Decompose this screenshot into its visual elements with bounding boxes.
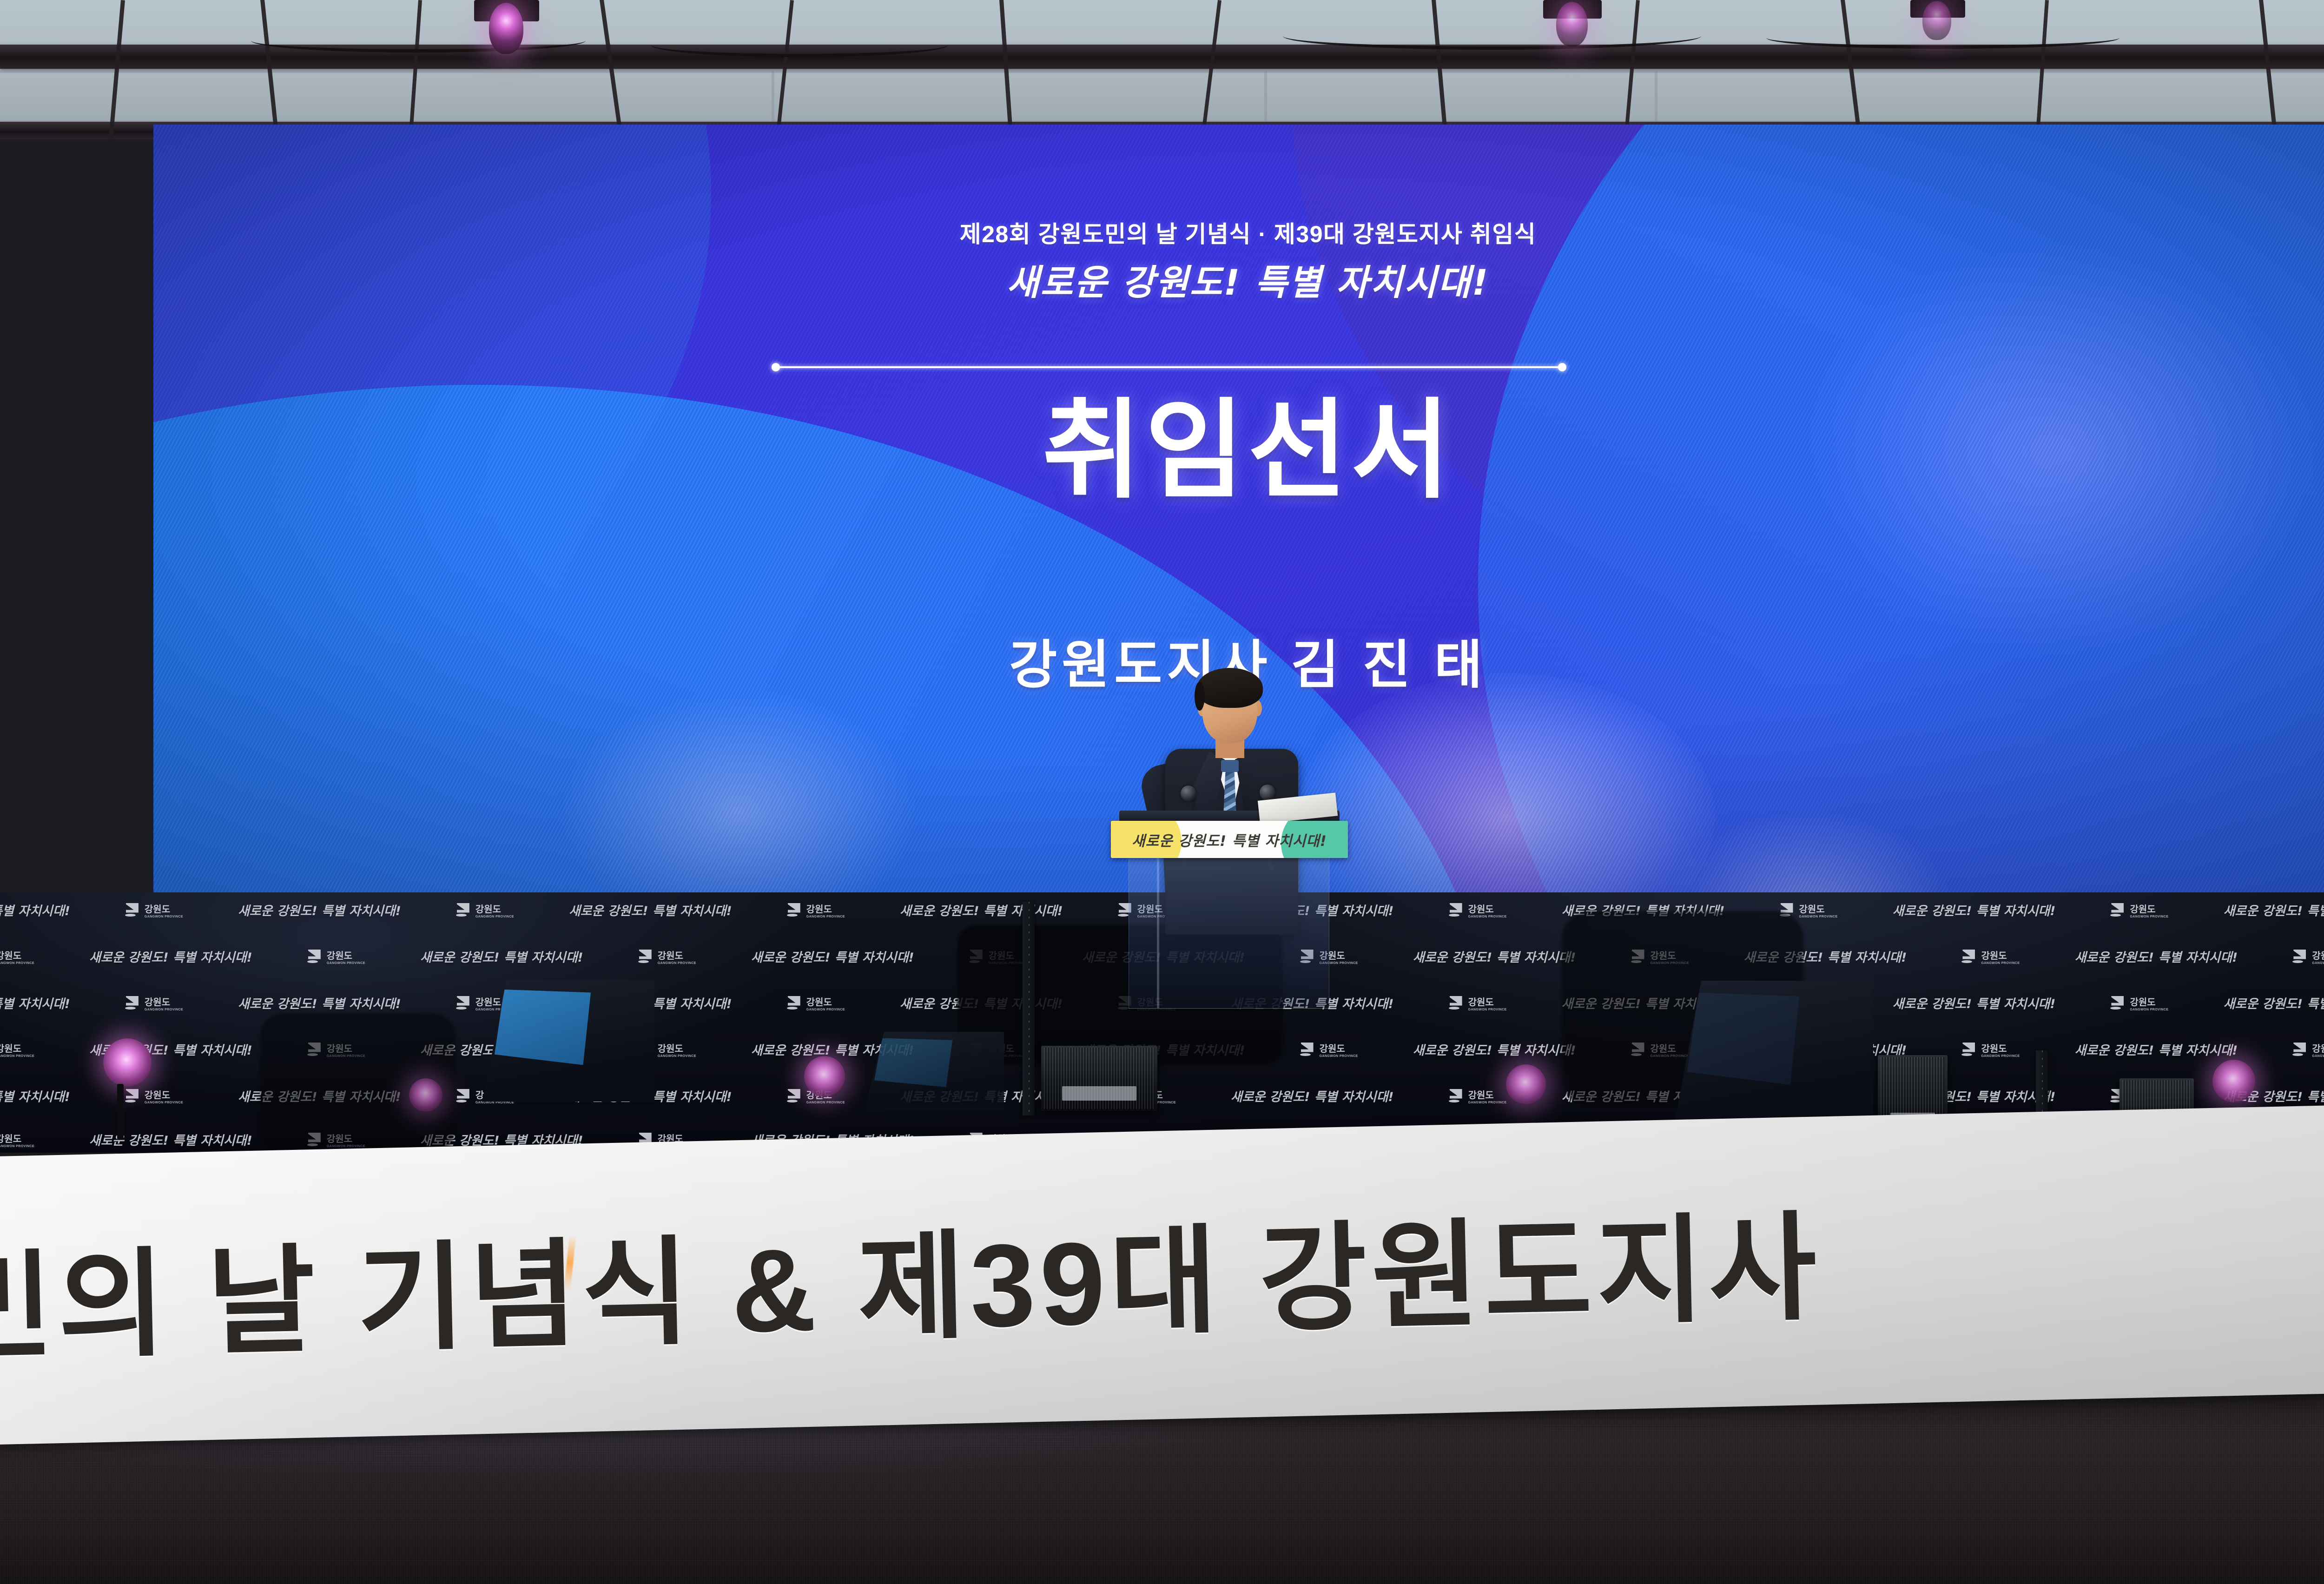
truss-rod xyxy=(1432,0,1448,139)
gangwon-mark-icon xyxy=(125,1089,140,1103)
truss-rod xyxy=(109,0,125,139)
backdrop-slogan-text: 새로운 강원도! 특별 자치시대! xyxy=(89,947,252,965)
backdrop-slogan-text: 새로운 강원도! 특별 자치시대! xyxy=(0,1087,70,1105)
backdrop-slogan-text: 새로운 강원도! 특별 자치시대! xyxy=(2223,901,2324,919)
gangwon-logo-name: 강원도GANGWON PROVINCE xyxy=(1320,1041,1358,1058)
gangwon-mark-icon xyxy=(787,903,802,917)
gangwon-logo-name: 강원도GANGWON PROVINCE xyxy=(1799,902,1838,918)
light-stand xyxy=(117,1084,124,1140)
stage-monitor-wedge xyxy=(865,1032,1004,1111)
truss-rod xyxy=(600,0,623,138)
gangwon-logo: 강원도GANGWON PROVINCE xyxy=(787,902,845,918)
gangwon-mark-icon xyxy=(307,950,323,964)
truss-rod xyxy=(2259,0,2278,139)
gangwon-logo-subtext: GANGWON PROVINCE xyxy=(658,962,696,965)
gangwon-logo-name: 강원도GANGWON PROVINCE xyxy=(475,902,514,918)
gangwon-mark-icon xyxy=(1449,903,1464,917)
gangwon-logo-subtext: GANGWON PROVINCE xyxy=(0,1145,34,1148)
gangwon-logo-subtext: GANGWON PROVINCE xyxy=(0,962,34,965)
gangwon-mark-icon xyxy=(1961,950,1977,964)
backdrop-slogan-text: 새로운 강원도! 특별 자치시대! xyxy=(0,994,70,1012)
gangwon-logo: 강원도GANGWON PROVINCE xyxy=(1300,1041,1358,1058)
truss-rod xyxy=(1841,0,1862,139)
event-tagline: 새로운 강원도! 특별 자치시대! xyxy=(153,254,2324,305)
gangwon-logo-subtext: GANGWON PROVINCE xyxy=(145,1008,183,1011)
gangwon-mark-icon xyxy=(2110,903,2126,917)
gangwon-mark-icon xyxy=(787,1089,802,1103)
stage-front-banner: 도민의 날 기념식 & 제39대 강원도지사 xyxy=(0,1102,2324,1445)
rack-label xyxy=(1062,1086,1136,1101)
gangwon-logo: 강원도GANGWON PROVINCE xyxy=(1961,948,2020,965)
gangwon-logo-subtext: GANGWON PROVINCE xyxy=(2130,1008,2168,1011)
gangwon-logo-subtext: GANGWON PROVINCE xyxy=(1799,915,1838,918)
gangwon-mark-icon xyxy=(125,996,140,1010)
gangwon-logo: 강원도GANGWON PROVINCE xyxy=(307,948,365,965)
backdrop-slogan-text: 새로운 강원도! 특별 자치시대! xyxy=(2223,994,2324,1012)
gangwon-logo-name: 강원도GANGWON PROVINCE xyxy=(2312,1041,2324,1058)
gangwon-logo-name: 강원도GANGWON PROVINCE xyxy=(145,995,183,1011)
gangwon-logo: 강원도GANGWON PROVINCE xyxy=(638,948,696,965)
backdrop-slogan-text: 새로운 강원도! 특별 자치시대! xyxy=(1893,994,2056,1012)
truss-rod xyxy=(260,0,279,139)
backdrop-slogan-text: 새로운 강원도! 특별 자치시대! xyxy=(1231,1087,1394,1105)
podium: 새로운 강원도! 특별 자치시대! xyxy=(1111,766,1348,1008)
gangwon-logo-name: 강원도GANGWON PROVINCE xyxy=(806,902,845,918)
gangwon-mark-icon xyxy=(2292,950,2308,964)
gangwon-logo: 강원도GANGWON PROVINCE xyxy=(1449,902,1507,918)
gangwon-mark-icon xyxy=(1300,1043,1315,1056)
gangwon-mark-icon xyxy=(2110,996,2126,1010)
backdrop-slogan-text: 새로운 강원도! 특별 자치시대! xyxy=(751,947,914,965)
monitor-grille xyxy=(495,990,591,1065)
backdrop-slogan-text: 새로운 강원도! 특별 자치시대! xyxy=(1893,901,2056,919)
podium-acrylic-body xyxy=(1129,846,1329,1009)
gangwon-mark-icon xyxy=(456,903,471,917)
gangwon-mark-icon xyxy=(2292,1043,2308,1056)
truss-rod xyxy=(776,0,794,139)
gangwon-logo-subtext: GANGWON PROVINCE xyxy=(145,915,183,918)
gangwon-logo-subtext: GANGWON PROVINCE xyxy=(1981,962,2020,965)
stage-par-light xyxy=(804,1056,845,1097)
gangwon-logo: 강원도GANGWON PROVINCE xyxy=(2110,902,2168,918)
gangwon-logo-name: 강원도GANGWON PROVINCE xyxy=(1981,1041,2020,1058)
gangwon-logo-subtext: GANGWON PROVINCE xyxy=(806,1101,845,1104)
backdrop-slogan-text: 새로운 강원도! 특별 자치시대! xyxy=(1413,1040,1576,1058)
gangwon-logo: 강원도GANGWON PROVINCE xyxy=(456,902,514,918)
decorative-divider xyxy=(772,363,1566,372)
event-header-line: 제28회 강원도민의 날 기념식 · 제39대 강원도지사 취임식 xyxy=(153,216,2324,249)
stage-monitor-wedge xyxy=(1673,981,1873,1129)
backdrop-slogan-text: 새로운 강원도! 특별 자치시대! xyxy=(238,901,401,919)
gangwon-logo-name: 강원도GANGWON PROVINCE xyxy=(2130,902,2168,918)
gangwon-mark-icon xyxy=(1449,996,1464,1010)
gangwon-logo-subtext: GANGWON PROVINCE xyxy=(806,1008,845,1011)
gangwon-logo: 강원도GANGWON PROVINCE xyxy=(125,902,183,918)
stage-par-light xyxy=(409,1078,442,1112)
gangwon-logo-name: 강원도GANGWON PROVINCE xyxy=(0,948,34,965)
gangwon-logo: 강원도GANGWON PROVINCE xyxy=(2292,1041,2324,1058)
gangwon-logo-name: 강원도GANGWON PROVINCE xyxy=(2130,995,2168,1011)
truss-rod xyxy=(1201,0,1221,139)
gangwon-logo-subtext: GANGWON PROVINCE xyxy=(2312,1055,2324,1058)
divider-line xyxy=(776,366,1562,368)
gangwon-logo: 강원도GANGWON PROVINCE xyxy=(0,1131,34,1148)
gangwon-logo-name: 강원도GANGWON PROVINCE xyxy=(1468,1088,1507,1104)
backdrop-slogan-text: 새로운 강원도! 특별 자치시대! xyxy=(1413,947,1576,965)
gangwon-logo: 강원도GANGWON PROVINCE xyxy=(0,948,34,965)
gangwon-logo-subtext: GANGWON PROVINCE xyxy=(1468,1101,1507,1104)
gangwon-logo-name: 강원도GANGWON PROVINCE xyxy=(658,1041,696,1058)
gangwon-logo-subtext: GANGWON PROVINCE xyxy=(0,1055,34,1058)
truss-rod xyxy=(2035,0,2049,139)
gangwon-logo: 강원도GANGWON PROVINCE xyxy=(125,1088,183,1104)
page-title: 취임선서 xyxy=(153,397,2324,505)
ceiling-cable xyxy=(1283,22,1701,50)
gangwon-logo-name: 강원도GANGWON PROVINCE xyxy=(1468,995,1507,1011)
gangwon-logo-name: 강원도GANGWON PROVINCE xyxy=(2312,948,2324,965)
gangwon-logo-subtext: GANGWON PROVINCE xyxy=(2312,962,2324,965)
rig-spotlight xyxy=(489,3,523,54)
gangwon-logo-name: 강원도GANGWON PROVINCE xyxy=(1981,948,2020,965)
gangwon-logo-subtext: GANGWON PROVINCE xyxy=(1468,1008,1507,1011)
backdrop-slogan-text: 새로운 강원도! 특별 자치시대! xyxy=(89,1130,252,1148)
gangwon-logo-name: 강원도GANGWON PROVINCE xyxy=(145,902,183,918)
gangwon-logo-name: 강원도GANGWON PROVINCE xyxy=(806,995,845,1011)
podium-slogan-sign: 새로운 강원도! 특별 자치시대! xyxy=(1111,821,1348,858)
gangwon-logo-subtext: GANGWON PROVINCE xyxy=(327,962,365,965)
monitor-grille xyxy=(1687,993,1799,1085)
gangwon-logo-name: 강원도GANGWON PROVINCE xyxy=(0,1131,34,1148)
gangwon-logo: 강원도GANGWON PROVINCE xyxy=(0,1041,34,1058)
backdrop-slogan-text: 새로운 강원도! 특별 자치시대! xyxy=(0,901,70,919)
gangwon-logo-subtext: GANGWON PROVINCE xyxy=(1468,915,1507,918)
truss-rod xyxy=(409,0,422,139)
event-stage-photo: 제28회 강원도민의 날 기념식 · 제39대 강원도지사 취임식 새로운 강원… xyxy=(0,0,2324,1584)
hair xyxy=(1197,668,1263,708)
stage-par-light xyxy=(2212,1060,2255,1102)
rig-spotlight xyxy=(1922,1,1951,40)
gangwon-logo-subtext: GANGWON PROVINCE xyxy=(806,915,845,918)
gangwon-logo-name: 강원도GANGWON PROVINCE xyxy=(145,1088,183,1104)
gangwon-logo-subtext: GANGWON PROVINCE xyxy=(2130,915,2168,918)
rig-spotlight xyxy=(1556,2,1588,46)
stage-par-light xyxy=(1506,1064,1546,1104)
backdrop-slogan-text: 새로운 강원도! 특별 자치시대! xyxy=(238,994,401,1012)
venue-ceiling xyxy=(0,0,2324,139)
gangwon-logo-subtext: GANGWON PROVINCE xyxy=(145,1101,183,1104)
stage-monitor-wedge xyxy=(482,980,654,1102)
gangwon-logo: 강원도GANGWON PROVINCE xyxy=(1961,1041,2020,1058)
gangwon-mark-icon xyxy=(638,950,654,964)
truss-rod xyxy=(1624,0,1640,139)
stage-equipment-rack xyxy=(1041,1046,1157,1111)
gangwon-logo: 강원도GANGWON PROVINCE xyxy=(787,995,845,1011)
gangwon-mark-icon xyxy=(125,903,140,917)
podium-sign-text: 새로운 강원도! 특별 자치시대! xyxy=(1111,821,1348,858)
gangwon-logo-subtext: GANGWON PROVINCE xyxy=(1981,1055,2020,1058)
gangwon-mark-icon xyxy=(787,996,802,1010)
gangwon-logo-name: 강원도GANGWON PROVINCE xyxy=(327,948,365,965)
gangwon-logo: 강원도GANGWON PROVINCE xyxy=(2110,995,2168,1011)
backdrop-slogan-text: 새로운 강원도! 특별 자치시대! xyxy=(2074,1040,2238,1058)
gangwon-logo-subtext: GANGWON PROVINCE xyxy=(475,915,514,918)
stage-par-light xyxy=(103,1038,152,1087)
ceiling-panel-seam xyxy=(0,71,2324,73)
backdrop-slogan-text: 새로운 강원도! 특별 자치시대! xyxy=(900,901,1063,919)
gangwon-logo-name: 강원도GANGWON PROVINCE xyxy=(1468,902,1507,918)
backdrop-slogan-text: 새로운 강원도! 특별 자치시대! xyxy=(420,947,583,965)
backdrop-slogan-text: 새로운 강원도! 특별 자치시대! xyxy=(569,901,732,919)
gangwon-mark-icon xyxy=(456,996,471,1010)
gangwon-logo: 강원도GANGWON PROVINCE xyxy=(2292,948,2324,965)
gangwon-logo-subtext: GANGWON PROVINCE xyxy=(658,1055,696,1058)
ceiling-cable xyxy=(251,29,586,53)
gangwon-logo: 강원도GANGWON PROVINCE xyxy=(125,995,183,1011)
ceiling-cable xyxy=(651,33,948,57)
gangwon-logo: 강원도GANGWON PROVINCE xyxy=(1449,1088,1507,1104)
truss-rod xyxy=(999,0,1013,139)
divider-dot-right-icon xyxy=(1558,363,1566,371)
gangwon-logo-name: 강원도GANGWON PROVINCE xyxy=(658,948,696,965)
gangwon-logo-subtext: GANGWON PROVINCE xyxy=(1320,1055,1358,1058)
gangwon-mark-icon xyxy=(1961,1043,1977,1056)
gangwon-logo: 강원도GANGWON PROVINCE xyxy=(1449,995,1507,1011)
backdrop-slogan-text: 새로운 강원도! 특별 자치시대! xyxy=(2074,947,2238,965)
monitor-grille xyxy=(874,1038,952,1087)
vertical-truss xyxy=(1023,902,1035,1115)
gangwon-logo-name: 강원도GANGWON PROVINCE xyxy=(0,1041,34,1058)
gangwon-mark-icon xyxy=(456,1089,471,1103)
gangwon-mark-icon xyxy=(1449,1089,1464,1103)
